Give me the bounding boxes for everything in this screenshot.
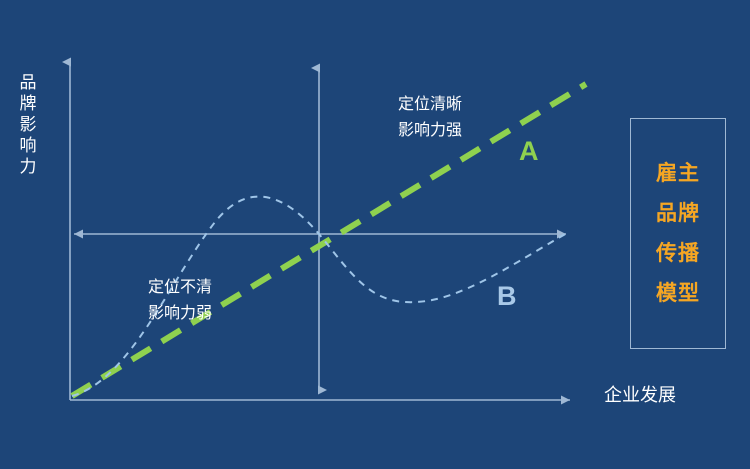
title-line-1: 雇主 xyxy=(656,154,700,194)
title-line-3: 传播 xyxy=(656,234,700,274)
diagram-canvas: 品牌 影响 力 企业发展 定位清晰 影响力强 定位不清 影响力弱 A B 雇主 … xyxy=(0,0,750,469)
annotation-strong-positioning: 定位清晰 影响力强 xyxy=(398,92,462,144)
x-axis-label: 企业发展 xyxy=(604,385,676,406)
y-axis-label: 品牌 影响 力 xyxy=(16,72,40,177)
curve-a-label: A xyxy=(519,136,539,167)
curve-a xyxy=(72,84,586,396)
title-box: 雇主 品牌 传播 模型 xyxy=(630,118,726,349)
title-line-2: 品牌 xyxy=(656,194,700,234)
annotation-weak-positioning: 定位不清 影响力弱 xyxy=(148,275,212,327)
title-line-4: 模型 xyxy=(656,274,700,314)
curve-b-label: B xyxy=(497,281,517,312)
